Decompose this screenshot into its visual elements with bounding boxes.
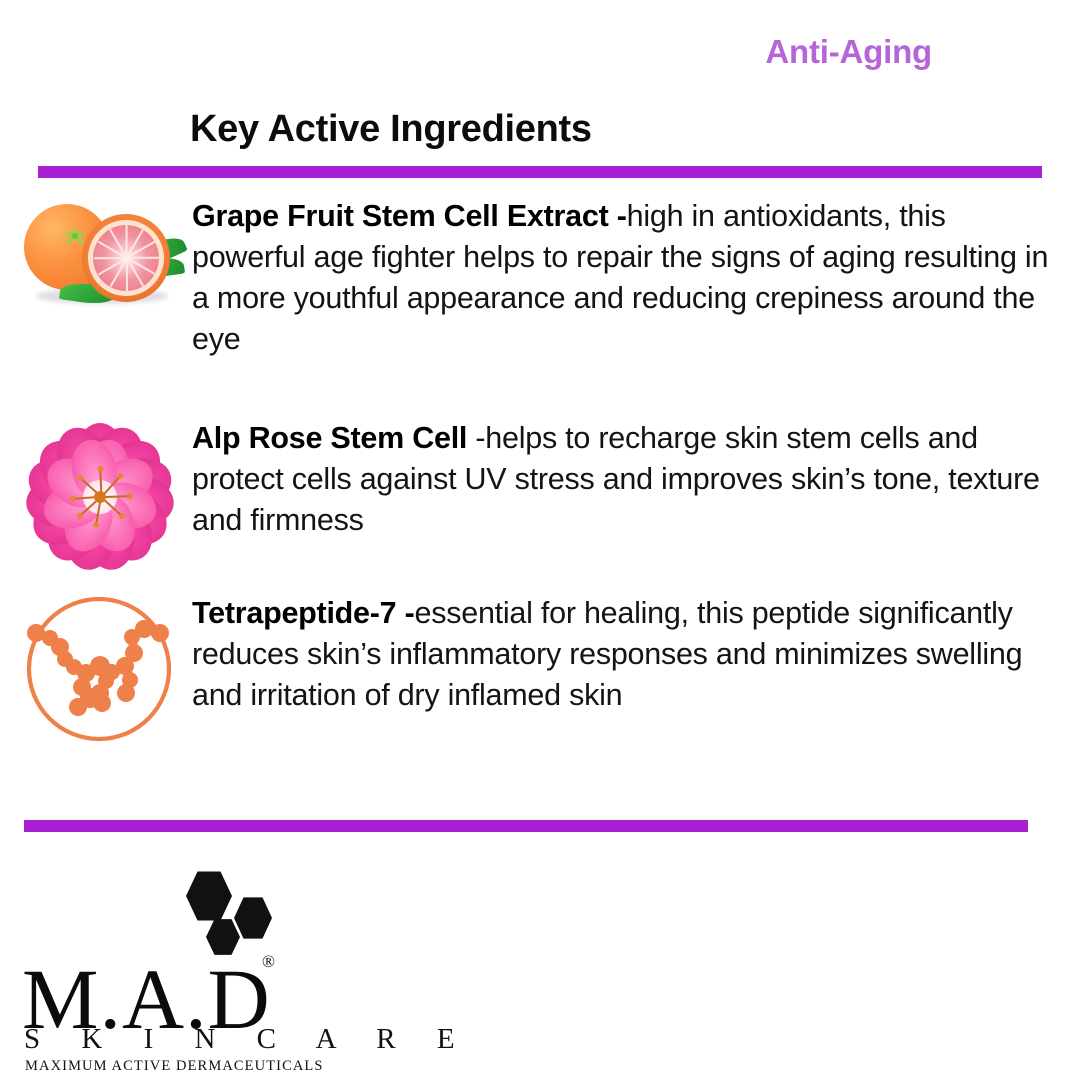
- grapefruit-pith: [88, 220, 164, 296]
- hexagon-medium-icon: [234, 896, 272, 940]
- page-title: Key Active Ingredients: [190, 108, 592, 151]
- brand-logo: ® M.A.D S K I N C A R E MAXIMUM ACTIVE D…: [16, 866, 316, 1076]
- ingredient-name: Tetrapeptide-7 -: [192, 596, 415, 630]
- alp-rose-flower-image: [20, 418, 185, 576]
- brand-subtitle: S K I N C A R E: [24, 1023, 472, 1056]
- grapefruit-flesh: [93, 225, 159, 291]
- ingredient-name: Grape Fruit Stem Cell Extract -: [192, 199, 627, 233]
- peptide-molecule-icon: [20, 593, 185, 745]
- ingredient-text-tetrapeptide: Tetrapeptide-7 -essential for healing, t…: [192, 593, 1064, 716]
- divider-bottom: [24, 820, 1028, 832]
- grapefruit-image: [20, 196, 185, 316]
- molecule-svg: [20, 593, 180, 745]
- ingredient-name: Alp Rose Stem Cell: [192, 421, 475, 455]
- halved-grapefruit: [82, 214, 170, 302]
- ingredient-text-alp-rose: Alp Rose Stem Cell -helps to recharge sk…: [192, 418, 1064, 541]
- divider-top: [38, 166, 1042, 178]
- brand-tagline: MAXIMUM ACTIVE DERMACEUTICALS: [25, 1058, 324, 1075]
- category-label: Anti-Aging: [765, 33, 932, 71]
- flower-pistil: [94, 491, 106, 503]
- hexagon-cluster-icon: [184, 868, 294, 960]
- hexagon-large-icon: [186, 870, 232, 922]
- ingredient-text-grapefruit: Grape Fruit Stem Cell Extract -high in a…: [192, 196, 1064, 360]
